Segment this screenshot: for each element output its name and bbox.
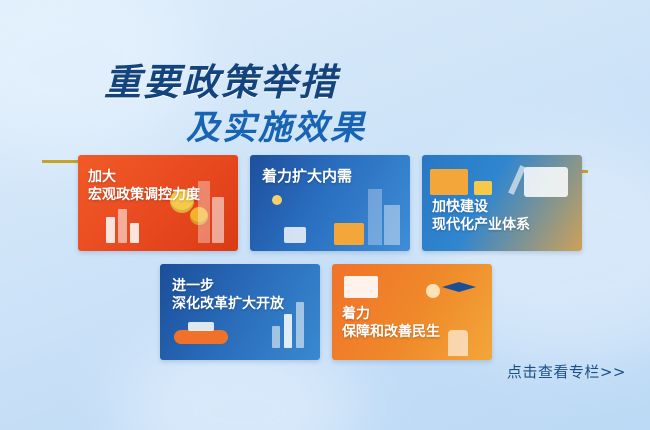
view-column-link[interactable]: 点击查看专栏>>	[507, 361, 626, 382]
banner-title-line-1: 重要政策举措	[104, 52, 338, 106]
card-macro-policy-label: 加大 宏观政策调控力度	[88, 169, 200, 205]
card-reform-opening[interactable]: 进一步 深化改革扩大开放	[160, 264, 320, 360]
card-modern-industry[interactable]: 加快建设 现代化产业体系	[422, 155, 582, 251]
bar-chart-bar	[118, 209, 127, 243]
package-box-icon	[284, 227, 306, 243]
graduation-cap-icon	[442, 282, 476, 292]
card-reform-opening-label: 进一步 深化改革扩大开放	[172, 278, 284, 314]
shopping-bag-icon	[334, 223, 364, 245]
card-row-top: 加大 宏观政策调控力度 着力扩大内需 加快建设 现代化产业体系	[78, 155, 582, 251]
policy-banner: 重要政策举措 及实施效果 加大 宏观政策调控力度 着力扩大内需	[0, 0, 650, 430]
person-head-dot	[426, 284, 440, 298]
card-row-bottom: 进一步 深化改革扩大开放 着力 保障和改善民生	[160, 264, 492, 360]
card-macro-policy[interactable]: 加大 宏观政策调控力度	[78, 155, 238, 251]
card-modern-industry-label: 加快建设 现代化产业体系	[432, 199, 530, 235]
crate-icon	[474, 181, 492, 195]
building-shape	[384, 205, 400, 245]
bar-chart-bar	[212, 197, 224, 243]
bar-chart-bar	[284, 314, 292, 348]
monitor-screen-icon	[524, 167, 568, 197]
ship-cabin-icon	[188, 322, 214, 331]
bar-chart-bar	[106, 217, 115, 243]
card-peoples-livelihood-label: 着力 保障和改善民生	[342, 306, 440, 342]
building-shape	[368, 189, 382, 245]
bar-chart-bar	[296, 302, 304, 348]
bar-chart-bar	[130, 223, 139, 243]
ship-hull-icon	[174, 330, 228, 344]
book-icon	[344, 276, 378, 298]
card-peoples-livelihood[interactable]: 着力 保障和改善民生	[332, 264, 492, 360]
factory-box-icon	[430, 169, 468, 195]
person-head-dot	[272, 195, 282, 205]
bar-chart-bar	[272, 326, 280, 348]
person-body-shape	[448, 330, 468, 356]
card-domestic-demand-label: 着力扩大内需	[262, 167, 352, 186]
banner-title-line-2: 及实施效果	[186, 100, 366, 149]
title-block: 重要政策举措 及实施效果	[0, 52, 650, 152]
card-domestic-demand[interactable]: 着力扩大内需	[250, 155, 410, 251]
